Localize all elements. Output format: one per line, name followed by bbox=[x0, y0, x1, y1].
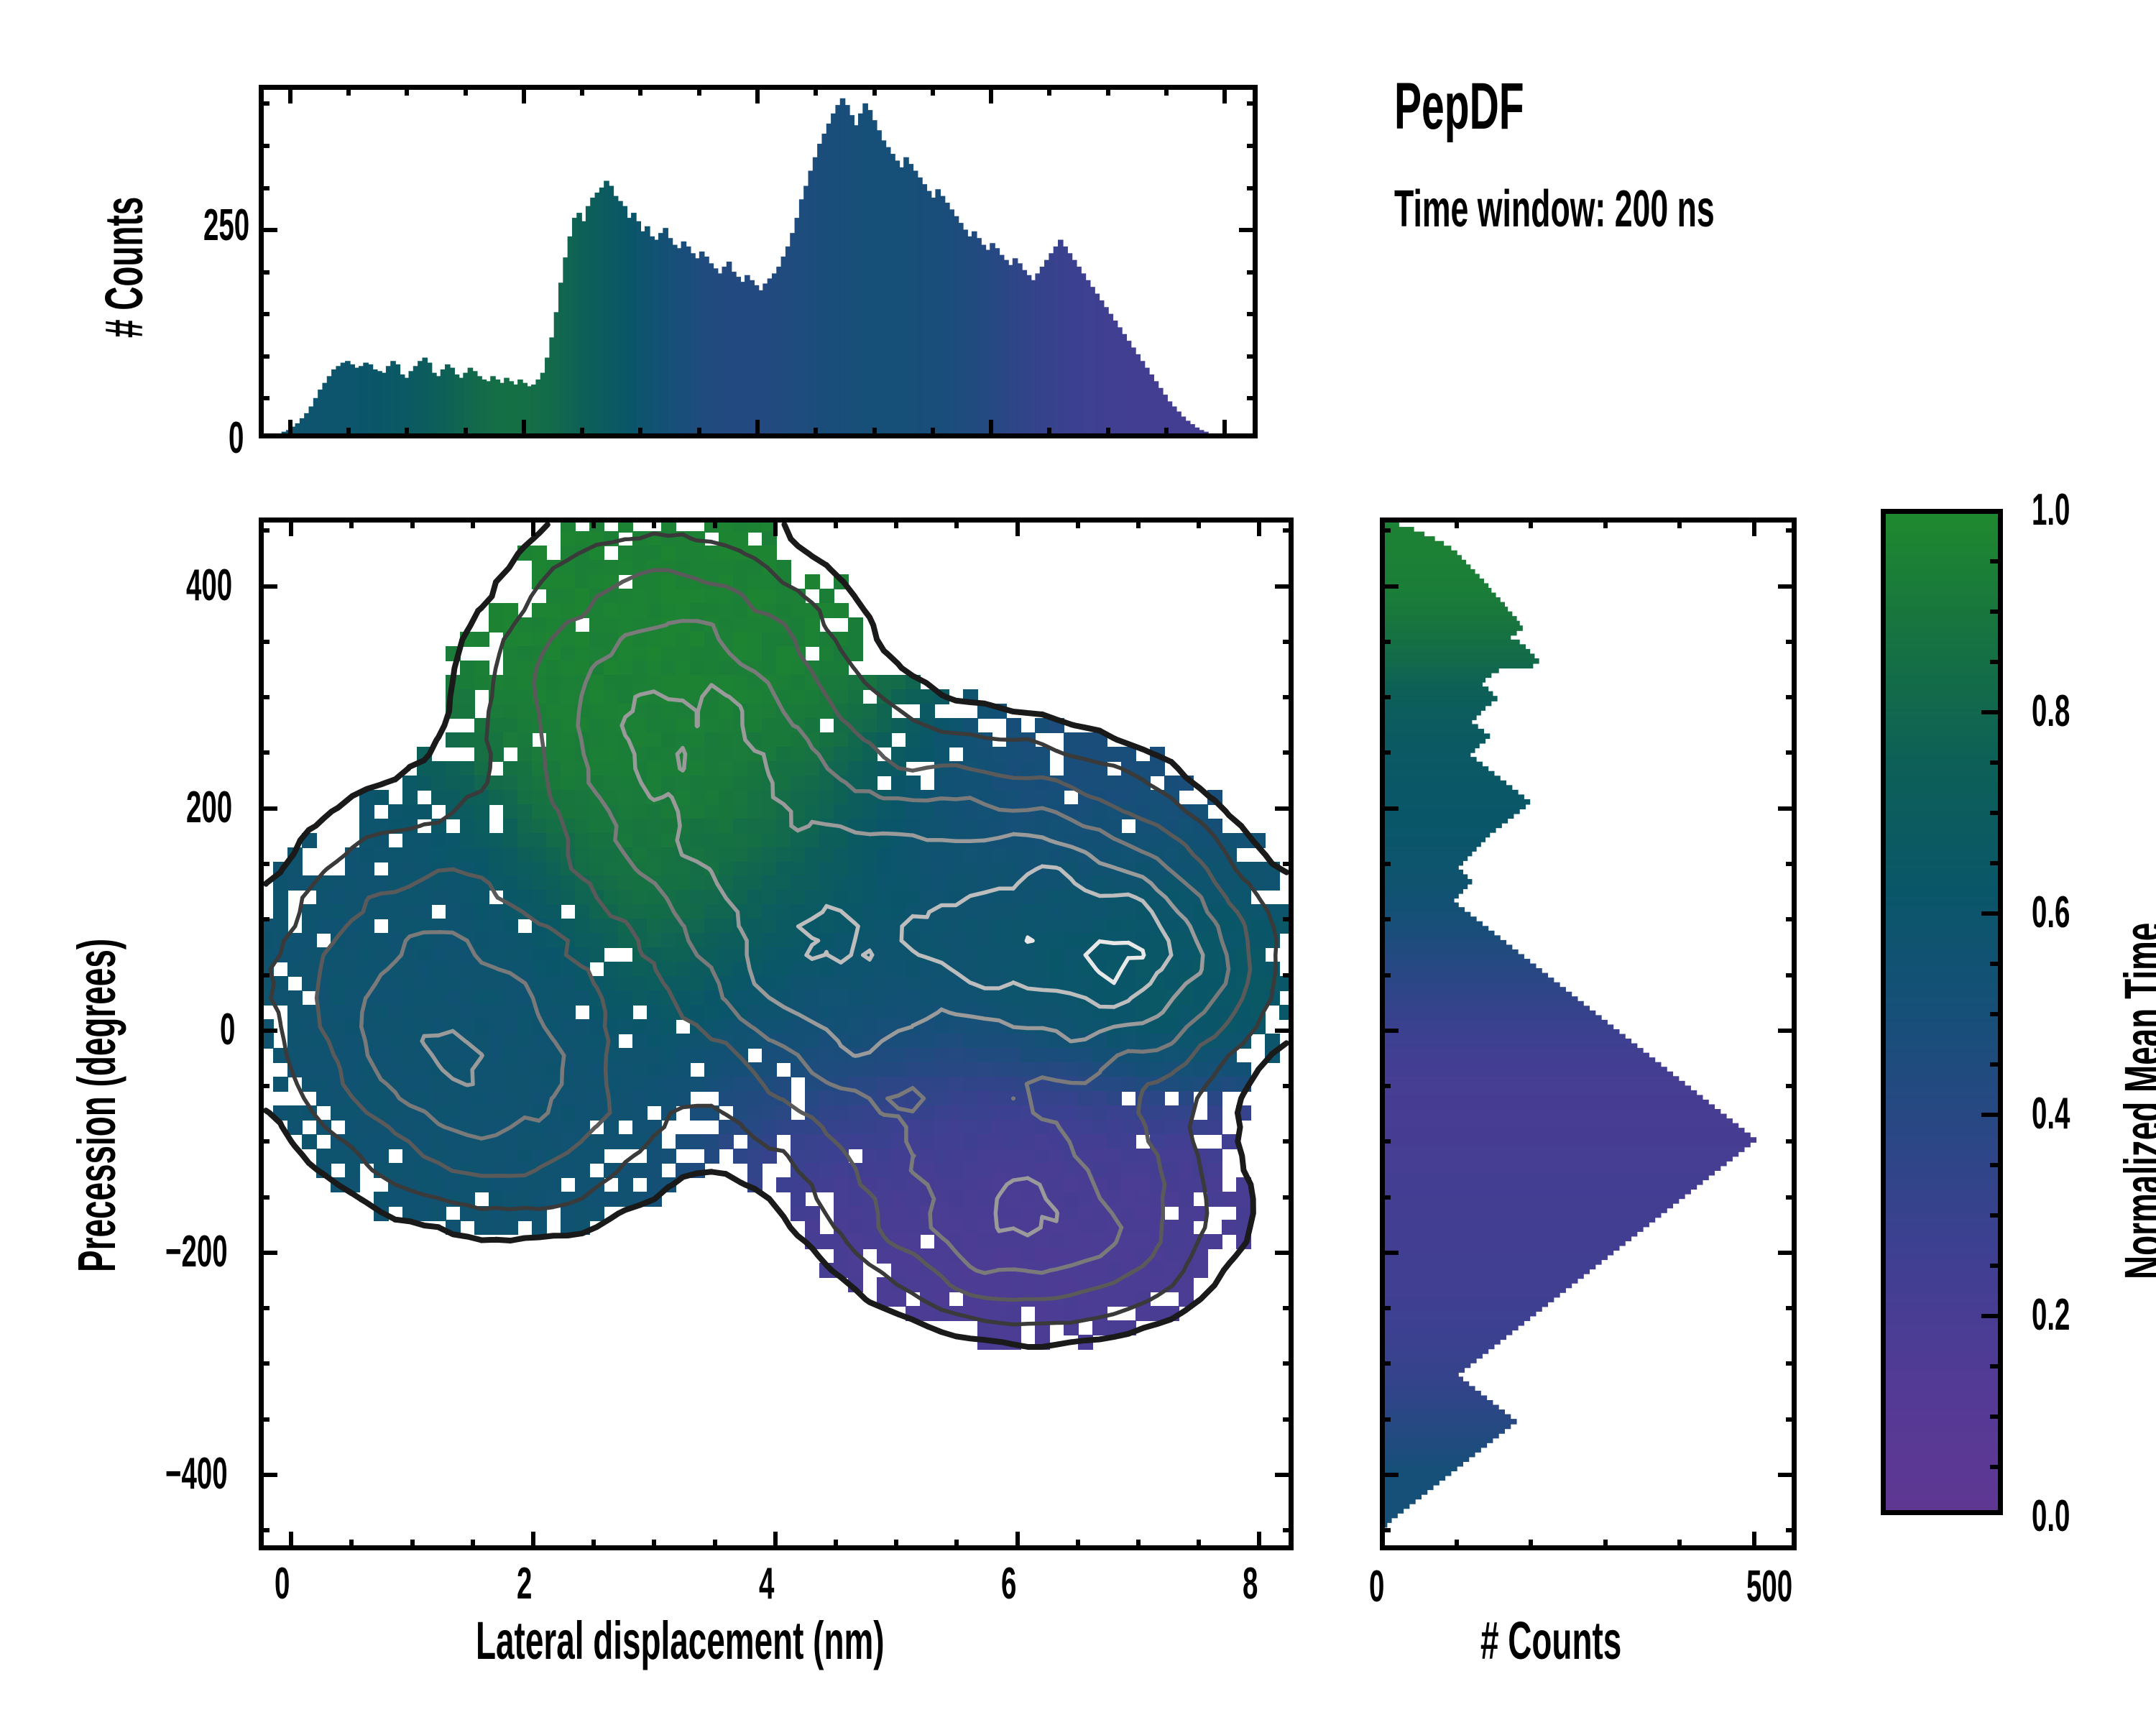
axis-tick bbox=[1786, 1361, 1797, 1366]
axis-tick bbox=[1283, 1417, 1294, 1422]
axis-tick bbox=[591, 517, 596, 528]
axis-tick bbox=[1786, 973, 1797, 977]
axis-tick bbox=[346, 85, 351, 96]
axis-tick bbox=[1981, 911, 2003, 916]
axis-tick bbox=[259, 640, 269, 644]
axis-tick bbox=[1380, 528, 1391, 533]
axis-tick bbox=[1380, 695, 1391, 699]
axis-tick bbox=[1786, 1195, 1797, 1200]
axis-tick bbox=[1786, 695, 1797, 699]
axis-tick bbox=[1786, 1528, 1797, 1532]
axis-tick bbox=[1752, 1532, 1756, 1550]
axis-tick bbox=[1015, 517, 1020, 536]
axis-tick bbox=[989, 420, 993, 438]
axis-tick bbox=[522, 85, 526, 103]
right-xtick-500: 500 bbox=[1746, 1561, 1792, 1612]
axis-tick bbox=[464, 428, 468, 438]
axis-tick bbox=[814, 85, 818, 96]
axis-tick bbox=[1529, 1540, 1533, 1550]
axis-tick bbox=[755, 85, 760, 103]
colorbar-tick-0.8: 0.8 bbox=[2032, 686, 2070, 737]
axis-tick bbox=[894, 517, 898, 528]
axis-tick bbox=[954, 517, 959, 528]
axis-tick bbox=[288, 420, 292, 438]
axis-tick bbox=[1380, 1473, 1399, 1477]
colorbar-canvas bbox=[1881, 509, 2003, 1515]
axis-tick bbox=[259, 1528, 269, 1532]
top-ylabel: # Counts bbox=[93, 197, 155, 338]
axis-tick bbox=[259, 806, 277, 811]
axis-tick bbox=[1197, 517, 1201, 528]
axis-tick bbox=[1283, 1306, 1294, 1310]
axis-tick bbox=[834, 517, 838, 528]
axis-tick bbox=[954, 1540, 959, 1550]
axis-tick bbox=[259, 1251, 277, 1255]
axis-tick bbox=[1786, 1306, 1797, 1310]
colorbar-tick-0.0: 0.0 bbox=[2032, 1491, 2070, 1542]
axis-tick bbox=[259, 862, 269, 866]
axis-tick bbox=[1981, 1113, 2003, 1117]
axis-tick bbox=[259, 1029, 277, 1033]
axis-tick bbox=[713, 517, 717, 528]
axis-tick bbox=[580, 85, 584, 96]
axis-tick bbox=[1455, 1540, 1459, 1550]
colorbar-label: Normalized Mean Time bbox=[2113, 923, 2156, 1279]
axis-tick bbox=[1380, 1306, 1391, 1310]
axis-tick bbox=[1380, 1251, 1399, 1255]
axis-tick bbox=[259, 312, 269, 316]
axis-tick bbox=[1283, 1361, 1294, 1366]
axis-tick bbox=[1222, 85, 1227, 103]
axis-tick bbox=[1990, 760, 2003, 765]
axis-tick bbox=[1778, 1029, 1797, 1033]
axis-tick bbox=[1283, 695, 1294, 699]
axis-tick bbox=[1136, 517, 1141, 528]
axis-tick bbox=[1380, 1417, 1391, 1422]
axis-tick bbox=[1990, 1465, 2003, 1469]
axis-tick bbox=[1247, 101, 1258, 106]
figure-root: 250 0 # Counts PepDF Time window: 200 ns… bbox=[0, 0, 2156, 1725]
axis-tick bbox=[259, 528, 269, 533]
axis-tick bbox=[410, 517, 415, 528]
heatmap-xtick-8: 8 bbox=[1243, 1558, 1258, 1609]
axis-tick bbox=[1283, 1528, 1294, 1532]
axis-tick bbox=[1380, 917, 1391, 921]
axis-tick bbox=[697, 85, 701, 96]
axis-tick bbox=[1106, 428, 1110, 438]
axis-tick bbox=[1786, 528, 1797, 533]
axis-tick bbox=[1380, 806, 1399, 811]
axis-tick bbox=[1076, 517, 1080, 528]
axis-tick bbox=[1247, 312, 1258, 316]
axis-tick bbox=[638, 428, 642, 438]
axis-tick bbox=[1990, 811, 2003, 815]
axis-tick bbox=[1990, 559, 2003, 563]
axis-tick bbox=[1990, 1062, 2003, 1067]
axis-tick bbox=[471, 517, 475, 528]
axis-tick bbox=[1247, 396, 1258, 400]
axis-tick bbox=[1677, 1540, 1682, 1550]
axis-tick bbox=[1778, 584, 1797, 589]
axis-tick bbox=[1990, 861, 2003, 865]
axis-tick bbox=[1283, 1139, 1294, 1144]
axis-tick bbox=[259, 1473, 277, 1477]
axis-tick bbox=[872, 428, 877, 438]
axis-tick bbox=[1981, 710, 2003, 714]
axis-tick bbox=[1283, 1195, 1294, 1200]
axis-tick bbox=[1247, 270, 1258, 275]
axis-tick bbox=[259, 584, 277, 589]
axis-tick bbox=[1380, 862, 1391, 866]
axis-tick bbox=[1257, 1532, 1261, 1550]
axis-tick bbox=[259, 101, 269, 106]
axis-tick bbox=[931, 428, 935, 438]
axis-tick bbox=[1786, 640, 1797, 644]
axis-tick bbox=[405, 85, 409, 96]
axis-tick bbox=[773, 1532, 778, 1550]
axis-tick bbox=[1778, 1251, 1797, 1255]
axis-tick bbox=[1164, 85, 1169, 96]
axis-tick bbox=[1990, 1163, 2003, 1167]
axis-tick bbox=[1283, 1084, 1294, 1088]
axis-tick bbox=[464, 85, 468, 96]
axis-tick bbox=[1275, 1251, 1294, 1255]
axis-tick bbox=[1990, 1213, 2003, 1218]
axis-tick bbox=[288, 85, 292, 103]
axis-tick bbox=[1380, 750, 1391, 755]
axis-tick bbox=[1136, 1540, 1141, 1550]
top-histogram-canvas bbox=[259, 85, 1258, 438]
axis-tick bbox=[471, 1540, 475, 1550]
axis-tick bbox=[1786, 862, 1797, 866]
axis-tick bbox=[931, 85, 935, 96]
axis-tick bbox=[259, 1139, 269, 1144]
right-xtick-0: 0 bbox=[1369, 1561, 1384, 1612]
axis-tick bbox=[1247, 186, 1258, 190]
axis-tick bbox=[591, 1540, 596, 1550]
axis-tick bbox=[1275, 584, 1294, 589]
axis-tick bbox=[652, 517, 656, 528]
axis-tick bbox=[1257, 517, 1261, 536]
right-histogram-canvas bbox=[1380, 517, 1797, 1550]
axis-tick bbox=[1283, 640, 1294, 644]
axis-tick bbox=[1752, 517, 1756, 536]
axis-tick bbox=[259, 973, 269, 977]
heatmap-xtick-2: 2 bbox=[517, 1558, 532, 1609]
axis-tick bbox=[1283, 973, 1294, 977]
axis-tick bbox=[1677, 517, 1682, 528]
axis-tick bbox=[405, 428, 409, 438]
axis-tick bbox=[1990, 1012, 2003, 1016]
heatmap-ytick-200: 200 bbox=[186, 782, 232, 833]
axis-tick bbox=[410, 1540, 415, 1550]
heatmap-ytick--400: −400 bbox=[165, 1448, 228, 1499]
axis-tick bbox=[1076, 1540, 1080, 1550]
axis-tick bbox=[1786, 1084, 1797, 1088]
axis-tick bbox=[1990, 660, 2003, 664]
axis-tick bbox=[1990, 1264, 2003, 1268]
heatmap-ylabel: Precession (degrees) bbox=[66, 939, 127, 1272]
axis-tick bbox=[1380, 1195, 1391, 1200]
axis-tick bbox=[1380, 1361, 1391, 1366]
axis-tick bbox=[1786, 1417, 1797, 1422]
axis-tick bbox=[755, 420, 760, 438]
axis-tick bbox=[989, 85, 993, 103]
axis-tick bbox=[713, 1540, 717, 1550]
axis-tick bbox=[1981, 1314, 2003, 1318]
axis-tick bbox=[1047, 428, 1051, 438]
axis-tick bbox=[259, 1195, 269, 1200]
axis-tick bbox=[814, 428, 818, 438]
heatmap-xtick-0: 0 bbox=[275, 1558, 290, 1609]
axis-tick bbox=[259, 1361, 269, 1366]
axis-tick bbox=[259, 354, 269, 359]
colorbar-tick-0.6: 0.6 bbox=[2032, 887, 2070, 938]
page-subtitle: Time window: 200 ns bbox=[1394, 180, 1715, 239]
axis-tick bbox=[1786, 917, 1797, 921]
axis-tick bbox=[872, 85, 877, 96]
axis-tick bbox=[259, 1417, 269, 1422]
axis-tick bbox=[259, 1306, 269, 1310]
axis-tick bbox=[259, 750, 269, 755]
axis-tick bbox=[773, 517, 778, 536]
axis-tick bbox=[1106, 85, 1110, 96]
axis-tick bbox=[1529, 517, 1533, 528]
axis-tick bbox=[1380, 1139, 1391, 1144]
right-xlabel: # Counts bbox=[1480, 1610, 1621, 1671]
axis-tick bbox=[289, 1532, 293, 1550]
axis-tick bbox=[1603, 517, 1608, 528]
axis-tick bbox=[531, 1532, 535, 1550]
axis-tick bbox=[289, 517, 293, 536]
axis-tick bbox=[834, 1540, 838, 1550]
axis-tick bbox=[346, 428, 351, 438]
axis-tick bbox=[1247, 354, 1258, 359]
axis-tick bbox=[1015, 1532, 1020, 1550]
heatmap-xlabel: Lateral displacement (nm) bbox=[476, 1610, 885, 1671]
axis-tick bbox=[1380, 1528, 1391, 1532]
colorbar-tick-1.0: 1.0 bbox=[2032, 484, 2070, 535]
axis-tick bbox=[1197, 1540, 1201, 1550]
heatmap-ytick--200: −200 bbox=[165, 1226, 228, 1277]
axis-tick bbox=[1778, 1473, 1797, 1477]
axis-tick bbox=[1603, 1540, 1608, 1550]
top-ytick-250: 250 bbox=[203, 200, 249, 251]
axis-tick bbox=[531, 517, 535, 536]
axis-tick bbox=[1380, 973, 1391, 977]
axis-tick bbox=[1239, 228, 1258, 232]
axis-tick bbox=[259, 270, 269, 275]
axis-tick bbox=[1990, 1414, 2003, 1419]
axis-tick bbox=[1380, 1084, 1391, 1088]
axis-tick bbox=[1283, 750, 1294, 755]
axis-tick bbox=[1275, 806, 1294, 811]
axis-tick bbox=[259, 917, 269, 921]
axis-tick bbox=[1380, 1029, 1399, 1033]
axis-tick bbox=[349, 1540, 354, 1550]
axis-tick bbox=[1990, 962, 2003, 966]
axis-tick bbox=[1380, 584, 1399, 589]
axis-tick bbox=[894, 1540, 898, 1550]
axis-tick bbox=[1380, 640, 1391, 644]
axis-tick bbox=[652, 1540, 656, 1550]
axis-tick bbox=[1222, 420, 1227, 438]
axis-tick bbox=[259, 186, 269, 190]
axis-tick bbox=[259, 228, 277, 232]
axis-tick bbox=[349, 517, 354, 528]
axis-tick bbox=[1455, 517, 1459, 528]
axis-tick bbox=[1275, 1029, 1294, 1033]
axis-tick bbox=[1283, 528, 1294, 533]
axis-tick bbox=[1283, 917, 1294, 921]
heatmap-xtick-6: 6 bbox=[1001, 1558, 1016, 1609]
heatmap-ytick-400: 400 bbox=[186, 560, 232, 611]
axis-tick bbox=[259, 695, 269, 699]
colorbar-tick-0.2: 0.2 bbox=[2032, 1289, 2070, 1340]
axis-tick bbox=[1778, 806, 1797, 811]
axis-tick bbox=[1247, 144, 1258, 148]
heatmap-canvas bbox=[259, 517, 1294, 1550]
axis-tick bbox=[1786, 750, 1797, 755]
axis-tick bbox=[580, 428, 584, 438]
heatmap-ytick-0: 0 bbox=[220, 1004, 235, 1055]
axis-tick bbox=[697, 428, 701, 438]
axis-tick bbox=[259, 144, 269, 148]
axis-tick bbox=[1047, 85, 1051, 96]
page-title: PepDF bbox=[1394, 69, 1524, 144]
axis-tick bbox=[1786, 1139, 1797, 1144]
axis-tick bbox=[1164, 428, 1169, 438]
axis-tick bbox=[522, 420, 526, 438]
axis-tick bbox=[1990, 609, 2003, 614]
axis-tick bbox=[1275, 1473, 1294, 1477]
heatmap-xtick-4: 4 bbox=[759, 1558, 774, 1609]
axis-tick bbox=[638, 85, 642, 96]
top-ytick-0: 0 bbox=[229, 413, 244, 464]
axis-tick bbox=[1283, 862, 1294, 866]
axis-tick bbox=[259, 1084, 269, 1088]
colorbar-tick-0.4: 0.4 bbox=[2032, 1088, 2070, 1139]
axis-tick bbox=[1990, 1364, 2003, 1368]
axis-tick bbox=[259, 396, 269, 400]
